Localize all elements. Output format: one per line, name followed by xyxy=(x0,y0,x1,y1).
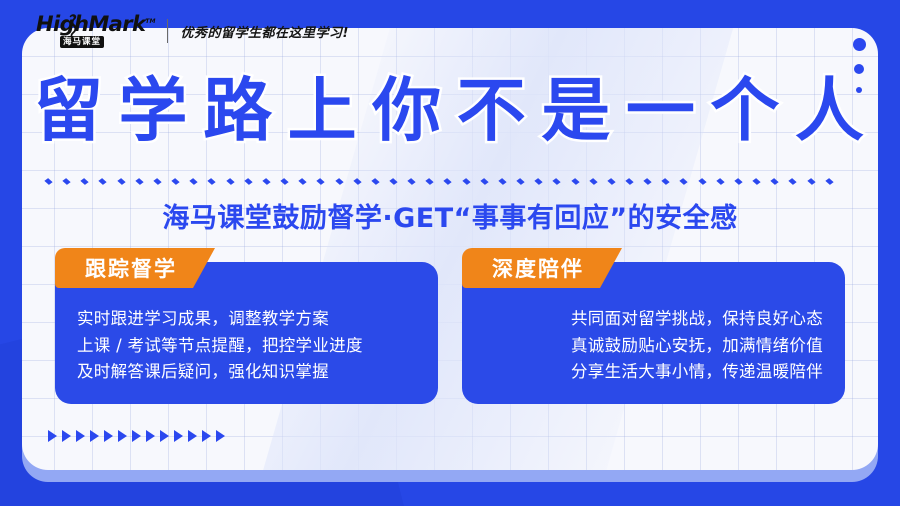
dash-mark xyxy=(299,178,307,185)
arrow-icon xyxy=(216,430,225,442)
card-line: 共同面对留学挑战，保持良好心态 xyxy=(484,306,823,333)
headline-char: 个 xyxy=(710,77,779,146)
dash-mark xyxy=(825,178,833,185)
dash-mark xyxy=(516,178,524,185)
feature-cards: 跟踪督学 实时跟进学习成果，调整教学方案 上课 / 考试等节点提醒，把控学业进度… xyxy=(55,262,845,404)
dash-mark xyxy=(226,178,234,185)
dash-mark xyxy=(752,178,760,185)
card-companionship-title: 深度陪伴 xyxy=(492,253,584,283)
dash-mark xyxy=(63,178,71,185)
arrow-icon xyxy=(76,430,85,442)
dash-mark xyxy=(99,178,107,185)
dash-mark xyxy=(44,178,52,185)
logo-trademark: TM xyxy=(145,18,155,25)
card-companionship-ribbon: 深度陪伴 xyxy=(462,248,622,288)
arrow-icon xyxy=(160,430,169,442)
seahorse-icon xyxy=(66,13,79,39)
brand-header: HighMarkTM 海马课堂 优秀的留学生都在这里学习! xyxy=(36,14,349,48)
headline-char: 不 xyxy=(457,77,526,146)
card-tracking-ribbon: 跟踪督学 xyxy=(55,248,215,288)
headline-char: 路 xyxy=(203,77,272,146)
dash-mark xyxy=(698,178,706,185)
side-dots xyxy=(846,38,872,93)
arrow-icon xyxy=(90,430,99,442)
dash-mark xyxy=(171,178,179,185)
dash-mark xyxy=(262,178,270,185)
arrow-strip xyxy=(48,430,225,442)
dash-mark xyxy=(498,178,506,185)
headline: 留 学 路 上 你 不 是 一 个 人 xyxy=(34,72,864,150)
dash-mark xyxy=(807,178,815,185)
card-line: 真诚鼓励贴心安抚，加满情绪价值 xyxy=(484,333,823,360)
dash-mark xyxy=(389,178,397,185)
dash-mark xyxy=(353,178,361,185)
card-companionship: 深度陪伴 共同面对留学挑战，保持良好心态 真诚鼓励贴心安抚，加满情绪价值 分享生… xyxy=(462,262,845,404)
headline-char: 你 xyxy=(372,77,441,146)
dash-mark xyxy=(771,178,779,185)
dash-mark xyxy=(407,178,415,185)
dash-mark xyxy=(680,178,688,185)
dash-mark xyxy=(81,178,89,185)
dash-mark xyxy=(789,178,797,185)
dash-mark xyxy=(426,178,434,185)
dash-mark xyxy=(317,178,325,185)
card-companionship-body: 共同面对留学挑战，保持良好心态 真诚鼓励贴心安抚，加满情绪价值 分享生活大事小情… xyxy=(462,306,845,386)
dash-mark xyxy=(444,178,452,185)
dash-mark xyxy=(280,178,288,185)
dot-large xyxy=(853,38,866,51)
dashed-divider xyxy=(44,174,834,188)
card-tracking-body: 实时跟进学习成果，调整教学方案 上课 / 考试等节点提醒，把控学业进度 及时解答… xyxy=(55,306,438,386)
headline-char: 上 xyxy=(288,77,357,146)
arrow-icon xyxy=(48,430,57,442)
dash-mark xyxy=(644,178,652,185)
headline-char: 留 xyxy=(34,77,103,146)
dash-mark xyxy=(535,178,543,185)
subtitle: 海马课堂鼓励督学·GET“事事有回应”的安全感 xyxy=(0,196,900,235)
dot-medium xyxy=(854,64,864,74)
logo-wordmark-text: HighMark xyxy=(36,12,145,36)
arrow-icon xyxy=(118,430,127,442)
arrow-icon xyxy=(202,430,211,442)
dash-mark xyxy=(244,178,252,185)
arrow-icon xyxy=(188,430,197,442)
dash-mark xyxy=(607,178,615,185)
dash-mark xyxy=(716,178,724,185)
headline-char: 学 xyxy=(119,77,188,146)
headline-char: 是 xyxy=(541,77,610,146)
dash-mark xyxy=(335,178,343,185)
logo-wordmark: HighMarkTM xyxy=(36,14,155,35)
arrow-icon xyxy=(146,430,155,442)
dot-small xyxy=(856,87,862,93)
dash-mark xyxy=(589,178,597,185)
highmark-logo: HighMarkTM 海马课堂 xyxy=(36,14,155,48)
dash-mark xyxy=(117,178,125,185)
card-line: 及时解答课后疑问，强化知识掌握 xyxy=(77,359,416,386)
arrow-icon xyxy=(174,430,183,442)
dash-mark xyxy=(371,178,379,185)
headline-char: 一 xyxy=(626,77,695,146)
brand-tagline: 优秀的留学生都在这里学习! xyxy=(180,22,348,41)
dash-mark xyxy=(662,178,670,185)
dash-mark xyxy=(553,178,561,185)
dash-mark xyxy=(571,178,579,185)
card-tracking-title: 跟踪督学 xyxy=(85,253,177,283)
dash-mark xyxy=(625,178,633,185)
dash-mark xyxy=(734,178,742,185)
card-line: 分享生活大事小情，传递温暖陪伴 xyxy=(484,359,823,386)
arrow-icon xyxy=(104,430,113,442)
card-tracking: 跟踪督学 实时跟进学习成果，调整教学方案 上课 / 考试等节点提醒，把控学业进度… xyxy=(55,262,438,404)
dash-mark xyxy=(480,178,488,185)
arrow-icon xyxy=(132,430,141,442)
dash-mark xyxy=(153,178,161,185)
dash-mark xyxy=(208,178,216,185)
dash-mark xyxy=(190,178,198,185)
arrow-icon xyxy=(62,430,71,442)
promo-banner: HighMarkTM 海马课堂 优秀的留学生都在这里学习! 留 学 路 上 你 … xyxy=(0,0,900,506)
dash-mark xyxy=(135,178,143,185)
dash-mark xyxy=(462,178,470,185)
card-line: 上课 / 考试等节点提醒，把控学业进度 xyxy=(77,333,416,360)
header-divider xyxy=(167,19,168,43)
card-line: 实时跟进学习成果，调整教学方案 xyxy=(77,306,416,333)
